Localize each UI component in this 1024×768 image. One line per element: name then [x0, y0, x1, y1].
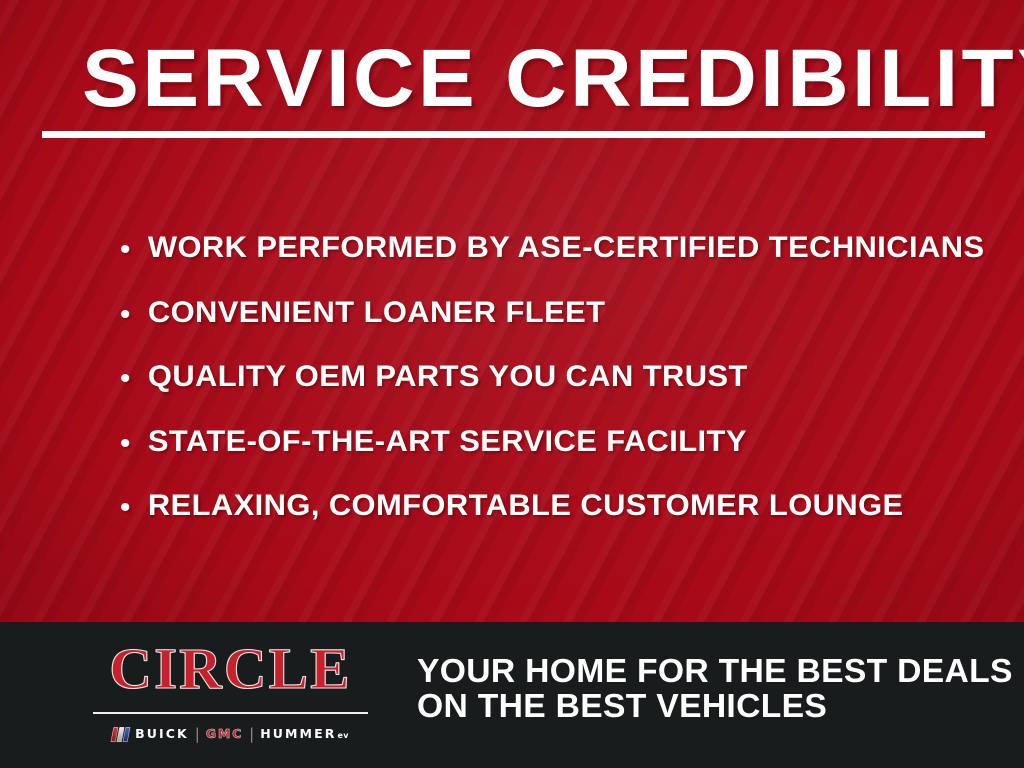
- list-item: QUALITY OEM PARTS YOU CAN TRUST: [118, 357, 1024, 422]
- list-item: RELAXING, COMFORTABLE CUSTOMER LOUNGE: [118, 486, 1024, 551]
- brand-label-hummer-ev: ev: [337, 731, 348, 740]
- dealer-logo: CIRCLE BUICK | GMC | HUMMER ev: [93, 640, 368, 698]
- brand-label-buick: BUICK: [135, 727, 189, 741]
- logo-divider: [93, 712, 368, 714]
- bullet-dot-icon: [121, 439, 129, 447]
- list-item-label: QUALITY OEM PARTS YOU CAN TRUST: [148, 357, 748, 397]
- tagline-line-1: YOUR HOME FOR THE BEST DEALS: [417, 653, 1009, 688]
- list-item: WORK PERFORMED BY ASE-CERTIFIED TECHNICI…: [118, 228, 1024, 293]
- brand-label-hummer-group: HUMMER ev: [260, 727, 349, 741]
- title-divider: [42, 131, 985, 138]
- list-item-label: CONVENIENT LOANER FLEET: [148, 293, 606, 333]
- brand-label-gmc: GMC: [206, 727, 243, 741]
- buick-tri-shield-icon: [112, 726, 129, 742]
- brand-lineup: BUICK | GMC | HUMMER ev: [93, 724, 368, 744]
- list-item-label: WORK PERFORMED BY ASE-CERTIFIED TECHNICI…: [148, 228, 985, 268]
- dealer-tagline: YOUR HOME FOR THE BEST DEALS ON THE BEST…: [417, 653, 1009, 723]
- feature-bullet-list: WORK PERFORMED BY ASE-CERTIFIED TECHNICI…: [118, 228, 998, 551]
- bullet-dot-icon: [121, 503, 129, 511]
- page-title: SERVICE CREDIBILITY: [82, 36, 1018, 122]
- list-item: STATE-OF-THE-ART SERVICE FACILITY: [118, 422, 1024, 487]
- logo-wordmark: CIRCLE: [90, 640, 371, 698]
- list-item: CONVENIENT LOANER FLEET: [118, 293, 1024, 358]
- bullet-dot-icon: [121, 245, 129, 253]
- slide-root: SERVICE CREDIBILITY WORK PERFORMED BY AS…: [0, 0, 1024, 768]
- list-item-label: RELAXING, COMFORTABLE CUSTOMER LOUNGE: [148, 486, 904, 526]
- tagline-line-2: ON THE BEST VEHICLES: [417, 688, 1009, 723]
- brand-separator: |: [195, 727, 200, 742]
- brand-label-hummer: HUMMER: [260, 727, 336, 741]
- bullet-dot-icon: [121, 374, 129, 382]
- footer-bar: CIRCLE BUICK | GMC | HUMMER ev YOUR HOME: [0, 622, 1024, 768]
- list-item-label: STATE-OF-THE-ART SERVICE FACILITY: [148, 422, 747, 462]
- bullet-dot-icon: [121, 310, 129, 318]
- brand-separator: |: [249, 727, 254, 742]
